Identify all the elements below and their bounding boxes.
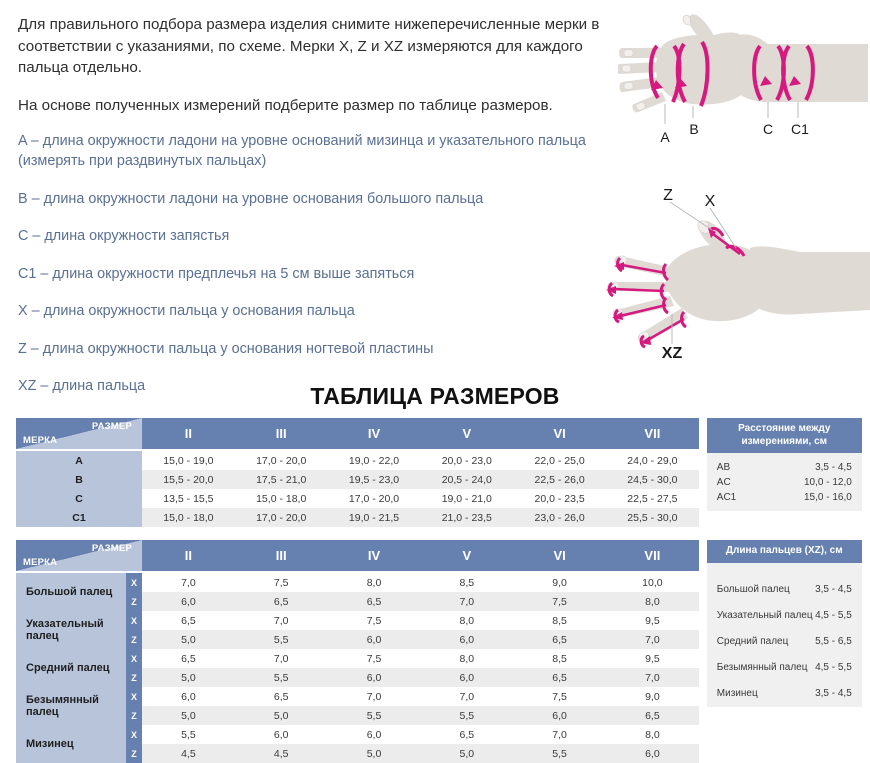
- measurement-leader-lines-top: [665, 102, 798, 124]
- cell-value: 7,5: [328, 649, 421, 668]
- finger-name: Указательный палец: [717, 611, 813, 621]
- table-row: C 13,5 - 15,5 15,0 - 18,0 17,0 - 20,0 19…: [16, 489, 699, 508]
- measure-key-z: Z: [126, 592, 142, 611]
- cell-value: 5,0: [142, 630, 235, 649]
- cell-value: 13,5 - 15,5: [142, 489, 235, 508]
- cell-value: 6,0: [328, 725, 421, 744]
- corner-label-size: РАЗМЕР: [92, 543, 132, 554]
- measure-key-z: Z: [126, 706, 142, 725]
- cell-value: 19,0 - 21,5: [328, 508, 421, 527]
- diagram-label-c: C: [763, 121, 773, 137]
- cell-value: 6,0: [142, 592, 235, 611]
- cell-value: 9,0: [513, 572, 606, 592]
- size-header-ii: II: [142, 418, 235, 450]
- cell-value: 17,0 - 20,0: [235, 508, 328, 527]
- cell-value: 6,5: [328, 592, 421, 611]
- cell-value: 15,0 - 18,0: [235, 489, 328, 508]
- tables-area: МЕРКА РАЗМЕР II III IV V VI VII A 15,0 -…: [0, 418, 870, 763]
- cell-value: 9,5: [606, 649, 699, 668]
- table-row: Большой палец X 7,0 7,5 8,0 8,5 9,0 10,0: [16, 572, 699, 592]
- table-corner-cell: МЕРКА РАЗМЕР: [16, 418, 142, 450]
- measure-key-x: X: [126, 687, 142, 706]
- measure-key-z: Z: [126, 668, 142, 687]
- distance-value: 15,0 - 16,0: [804, 493, 852, 503]
- finger-name: Безымянный палец: [717, 663, 808, 673]
- cell-value: 22,0 - 25,0: [513, 450, 606, 470]
- cell-value: 8,5: [513, 649, 606, 668]
- table-row: A 15,0 - 19,0 17,0 - 20,0 19,0 - 22,0 20…: [16, 450, 699, 470]
- measure-key-z: Z: [126, 630, 142, 649]
- cell-value: 7,0: [420, 687, 513, 706]
- cell-value: 4,5: [235, 744, 328, 763]
- distance-name: AC: [717, 478, 731, 488]
- measure-key-x: X: [126, 649, 142, 668]
- cell-value: 5,0: [235, 706, 328, 725]
- list-item: Средний палец 5,5 - 6,5: [717, 637, 852, 647]
- list-item: AC1 15,0 - 16,0: [717, 493, 852, 503]
- description-c1: C1 – длина окружности предплечья на 5 см…: [18, 264, 618, 284]
- cell-value: 6,0: [420, 668, 513, 687]
- cell-value: 6,0: [420, 630, 513, 649]
- distance-panel: Расстояние между измерениями, см AB 3,5 …: [707, 418, 862, 511]
- description-x: X – длина окружности пальца у основания …: [18, 301, 618, 321]
- cell-value: 7,0: [142, 572, 235, 592]
- cell-value: 5,5: [142, 725, 235, 744]
- intro-paragraph-1: Для правильного подбора размера изделия …: [18, 14, 618, 79]
- diagram-label-c1: C1: [791, 121, 809, 137]
- cell-value: 6,5: [142, 649, 235, 668]
- size-header-ii: II: [142, 540, 235, 572]
- finger-name: Средний палец: [717, 637, 789, 647]
- cell-value: 6,5: [513, 630, 606, 649]
- description-b: B – длина окружности ладони на уровне ос…: [18, 189, 618, 209]
- cell-value: 7,5: [513, 592, 606, 611]
- cell-value: 24,0 - 29,0: [606, 450, 699, 470]
- table-row: Указательный палец X 6,5 7,0 7,5 8,0 8,5…: [16, 611, 699, 630]
- table-row: Средний палец X 6,5 7,0 7,5 8,0 8,5 9,5: [16, 649, 699, 668]
- cell-value: 5,5: [235, 668, 328, 687]
- finger-label: Указательный палец: [16, 611, 126, 649]
- cell-value: 7,5: [235, 572, 328, 592]
- size-header-vi: VI: [513, 540, 606, 572]
- size-header-iv: IV: [328, 418, 421, 450]
- diagram-label-a: A: [660, 129, 670, 145]
- corner-label-size: РАЗМЕР: [92, 421, 132, 432]
- distance-name: AB: [717, 463, 730, 473]
- distance-panel-title: Расстояние между измерениями, см: [707, 418, 862, 453]
- cell-value: 15,5 - 20,0: [142, 470, 235, 489]
- row-label: A: [16, 450, 142, 470]
- finger-name: Большой палец: [717, 585, 790, 595]
- finger-length-panel-title: Длина пальцев (XZ), см: [707, 540, 862, 563]
- cell-value: 7,0: [420, 592, 513, 611]
- cell-value: 20,5 - 24,0: [420, 470, 513, 489]
- diagram-label-x: X: [705, 193, 716, 210]
- diagram-label-xz: XZ: [662, 345, 683, 362]
- cell-value: 8,5: [513, 611, 606, 630]
- cell-value: 6,5: [235, 592, 328, 611]
- cell-value: 19,0 - 21,0: [420, 489, 513, 508]
- size-table-abc: МЕРКА РАЗМЕР II III IV V VI VII A 15,0 -…: [16, 418, 699, 527]
- cell-value: 5,5: [420, 706, 513, 725]
- finger-length: 5,5 - 6,5: [815, 637, 852, 647]
- table-row: Безымянный палец X 6,0 6,5 7,0 7,0 7,5 9…: [16, 687, 699, 706]
- intro-paragraph-2: На основе полученных измерений подберите…: [18, 95, 618, 117]
- cell-value: 22,5 - 27,5: [606, 489, 699, 508]
- diagram-label-b: B: [689, 121, 698, 137]
- measure-key-x: X: [126, 725, 142, 744]
- table-row: Мизинец X 5,5 6,0 6,0 6,5 7,0 8,0: [16, 725, 699, 744]
- cell-value: 8,0: [420, 611, 513, 630]
- cell-value: 10,0: [606, 572, 699, 592]
- cell-value: 7,0: [513, 725, 606, 744]
- row-label: B: [16, 470, 142, 489]
- size-header-vii: VII: [606, 418, 699, 450]
- cell-value: 5,5: [328, 706, 421, 725]
- cell-value: 20,0 - 23,0: [420, 450, 513, 470]
- cell-value: 17,5 - 21,0: [235, 470, 328, 489]
- cell-value: 7,0: [328, 687, 421, 706]
- list-item: Мизинец 3,5 - 4,5: [717, 689, 852, 699]
- cell-value: 21,0 - 23,5: [420, 508, 513, 527]
- intro-block: Для правильного подбора размера изделия …: [18, 14, 618, 132]
- size-header-v: V: [420, 418, 513, 450]
- distance-panel-body: AB 3,5 - 4,5 AC 10,0 - 12,0 AC1 15,0 - 1…: [707, 453, 862, 511]
- cell-value: 8,0: [606, 725, 699, 744]
- finger-length-panel-body: Большой палец 3,5 - 4,5 Указательный пал…: [707, 563, 862, 707]
- finger-length: 3,5 - 4,5: [815, 585, 852, 595]
- hand-illustration-top-svg: A B C C1: [618, 6, 868, 154]
- row-label: C: [16, 489, 142, 508]
- table-corner-cell: МЕРКА РАЗМЕР: [16, 540, 142, 572]
- finger-label: Большой палец: [16, 572, 126, 611]
- cell-value: 6,5: [513, 668, 606, 687]
- finger-length: 3,5 - 4,5: [815, 689, 852, 699]
- cell-value: 8,0: [420, 649, 513, 668]
- finger-length: 4,5 - 5,5: [815, 663, 852, 673]
- description-z: Z – длина окружности пальца у основания …: [18, 339, 618, 359]
- page-title: ТАБЛИЦА РАЗМЕРОВ: [0, 383, 870, 410]
- size-header-vii: VII: [606, 540, 699, 572]
- finger-label: Безымянный палец: [16, 687, 126, 725]
- cell-value: 24,5 - 30,0: [606, 470, 699, 489]
- size-header-iii: III: [235, 540, 328, 572]
- corner-label-measure: МЕРКА: [23, 557, 57, 568]
- size-header-iv: IV: [328, 540, 421, 572]
- size-table-fingers: МЕРКА РАЗМЕР II III IV V VI VII Большой …: [16, 540, 699, 763]
- cell-value: 7,0: [235, 611, 328, 630]
- distance-value: 3,5 - 4,5: [815, 463, 852, 473]
- cell-value: 5,0: [420, 744, 513, 763]
- cell-value: 6,0: [328, 630, 421, 649]
- cell-value: 8,0: [328, 572, 421, 592]
- cell-value: 5,0: [328, 744, 421, 763]
- hand-illustration-bottom-svg: Z X XZ: [600, 186, 870, 364]
- finger-length-panel: Длина пальцев (XZ), см Большой палец 3,5…: [707, 540, 862, 707]
- cell-value: 6,5: [420, 725, 513, 744]
- cell-value: 19,5 - 23,0: [328, 470, 421, 489]
- description-a: A – длина окружности ладони на уровне ос…: [18, 131, 618, 172]
- finger-length: 4,5 - 5,5: [815, 611, 852, 621]
- table-row: C1 15,0 - 18,0 17,0 - 20,0 19,0 - 21,5 2…: [16, 508, 699, 527]
- corner-label-measure: МЕРКА: [23, 435, 57, 446]
- measure-key-x: X: [126, 572, 142, 592]
- measure-key-z: Z: [126, 744, 142, 763]
- cell-value: 6,0: [142, 687, 235, 706]
- finger-label: Средний палец: [16, 649, 126, 687]
- list-item: Указательный палец 4,5 - 5,5: [717, 611, 852, 621]
- cell-value: 5,5: [235, 630, 328, 649]
- cell-value: 6,5: [235, 687, 328, 706]
- list-item: AB 3,5 - 4,5: [717, 463, 852, 473]
- measure-key-x: X: [126, 611, 142, 630]
- list-item: AC 10,0 - 12,0: [717, 478, 852, 488]
- distance-name: AC1: [717, 493, 736, 503]
- cell-value: 25,5 - 30,0: [606, 508, 699, 527]
- size-table-block-1: МЕРКА РАЗМЕР II III IV V VI VII A 15,0 -…: [0, 418, 870, 527]
- cell-value: 6,0: [513, 706, 606, 725]
- cell-value: 7,5: [328, 611, 421, 630]
- cell-value: 15,0 - 18,0: [142, 508, 235, 527]
- cell-value: 5,0: [142, 668, 235, 687]
- finger-label: Мизинец: [16, 725, 126, 763]
- cell-value: 7,0: [606, 630, 699, 649]
- list-item: Большой палец 3,5 - 4,5: [717, 585, 852, 595]
- cell-value: 6,5: [606, 706, 699, 725]
- cell-value: 15,0 - 19,0: [142, 450, 235, 470]
- cell-value: 6,0: [606, 744, 699, 763]
- cell-value: 7,5: [513, 687, 606, 706]
- cell-value: 6,5: [142, 611, 235, 630]
- cell-value: 17,0 - 20,0: [235, 450, 328, 470]
- cell-value: 17,0 - 20,0: [328, 489, 421, 508]
- cell-value: 22,5 - 26,0: [513, 470, 606, 489]
- cell-value: 6,0: [328, 668, 421, 687]
- cell-value: 19,0 - 22,0: [328, 450, 421, 470]
- table-header-row: МЕРКА РАЗМЕР II III IV V VI VII: [16, 418, 699, 450]
- hand-diagram-circumference: A B C C1: [618, 6, 868, 154]
- hand-shape-bottom: [608, 221, 870, 343]
- cell-value: 8,0: [606, 592, 699, 611]
- distance-value: 10,0 - 12,0: [804, 478, 852, 488]
- cell-value: 20,0 - 23,5: [513, 489, 606, 508]
- diagram-label-z: Z: [663, 187, 673, 204]
- table-header-row: МЕРКА РАЗМЕР II III IV V VI VII: [16, 540, 699, 572]
- cell-value: 6,0: [235, 725, 328, 744]
- row-label: C1: [16, 508, 142, 527]
- list-item: Безымянный палец 4,5 - 5,5: [717, 663, 852, 673]
- measurement-descriptions: A – длина окружности ладони на уровне ос…: [18, 131, 618, 414]
- hand-diagram-fingers: Z X XZ: [600, 186, 870, 364]
- size-header-vi: VI: [513, 418, 606, 450]
- cell-value: 7,0: [606, 668, 699, 687]
- intro-section: Для правильного подбора размера изделия …: [0, 0, 870, 380]
- size-header-iii: III: [235, 418, 328, 450]
- cell-value: 9,5: [606, 611, 699, 630]
- cell-value: 7,0: [235, 649, 328, 668]
- description-c: C – длина окружности запястья: [18, 226, 618, 246]
- cell-value: 4,5: [142, 744, 235, 763]
- size-header-v: V: [420, 540, 513, 572]
- table-row: B 15,5 - 20,0 17,5 - 21,0 19,5 - 23,0 20…: [16, 470, 699, 489]
- finger-name: Мизинец: [717, 689, 758, 699]
- cell-value: 5,0: [142, 706, 235, 725]
- cell-value: 23,0 - 26,0: [513, 508, 606, 527]
- cell-value: 9,0: [606, 687, 699, 706]
- size-table-block-2: МЕРКА РАЗМЕР II III IV V VI VII Большой …: [0, 540, 870, 763]
- cell-value: 5,5: [513, 744, 606, 763]
- cell-value: 8,5: [420, 572, 513, 592]
